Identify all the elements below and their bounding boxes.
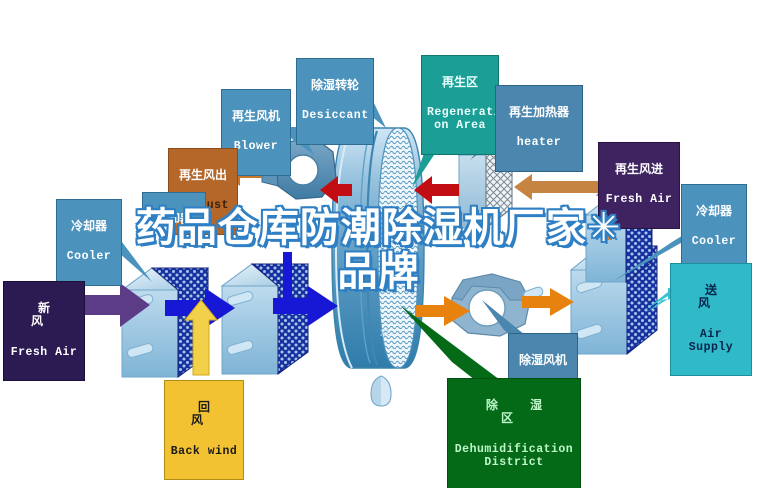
label-cooler-middle: 冷却器: [142, 192, 206, 222]
label-back-wind-en: Back wind: [170, 446, 238, 459]
label-air-supply-en: Air Supply: [676, 329, 746, 355]
label-dehumidify-blower-cn: 除湿风机: [514, 354, 572, 367]
label-cooler-right: 冷却器 Cooler: [681, 184, 747, 271]
label-back-wind-cn: 回 风: [170, 401, 238, 428]
arrow-process-air-stem: [283, 252, 292, 306]
label-regen-blower-cn: 再生风机: [227, 110, 285, 123]
label-regen-heater-cn: 再生加热器: [501, 106, 577, 119]
label-fresh-air: 新 风 Fresh Air: [3, 281, 85, 381]
label-back-wind: 回 风 Back wind: [164, 380, 244, 480]
label-fresh-air-cn: 新 风: [9, 302, 79, 329]
label-regen-fresh-air-en: Fresh Air: [604, 194, 674, 207]
label-cooler-right-en: Cooler: [687, 236, 741, 249]
label-desiccant-cn: 除湿转轮: [302, 79, 368, 92]
label-air-supply-cn: 送 风: [676, 284, 746, 311]
label-cooler-left: 冷却器 Cooler: [56, 199, 122, 286]
label-regen-fresh-air: 再生风进 Fresh Air: [598, 142, 680, 229]
label-regen-heater: 再生加热器 heater: [495, 85, 583, 172]
label-cooler-right-cn: 冷却器: [687, 205, 741, 218]
label-desiccant: 除湿转轮 Desiccant: [296, 58, 374, 145]
label-regen-heater-en: heater: [501, 137, 577, 150]
label-regeneration-area-en: Regenerati on Area: [427, 107, 493, 133]
label-dehumidification-district: 除 湿 区 Dehumidification District: [447, 378, 581, 488]
label-exhaust-cn: 再生风出: [174, 169, 232, 182]
label-regeneration-area: 再生区 Regenerati on Area: [421, 55, 499, 155]
label-cooler-left-cn: 冷却器: [62, 220, 116, 233]
label-dehumidification-district-en: Dehumidification District: [453, 444, 575, 470]
label-regeneration-area-cn: 再生区: [427, 76, 493, 89]
label-fresh-air-en: Fresh Air: [9, 347, 79, 360]
label-desiccant-en: Desiccant: [302, 110, 368, 123]
label-regen-fresh-air-cn: 再生风进: [604, 163, 674, 176]
desiccant-rotor-wheel: [332, 128, 424, 406]
label-dehumidification-district-cn: 除 湿 区: [453, 399, 575, 426]
label-air-supply: 送 风 Air Supply: [670, 263, 752, 376]
rotor-faint-mark: xt: [380, 325, 390, 339]
label-cooler-middle-cn: 冷却器: [148, 213, 200, 226]
cooler-unit-middle: [222, 264, 308, 374]
dehumidifier-schematic-diagram: xt 除湿转轮 Desiccant 再生风机 Blower 再生区 Regene…: [0, 0, 757, 488]
label-cooler-left-en: Cooler: [62, 251, 116, 264]
